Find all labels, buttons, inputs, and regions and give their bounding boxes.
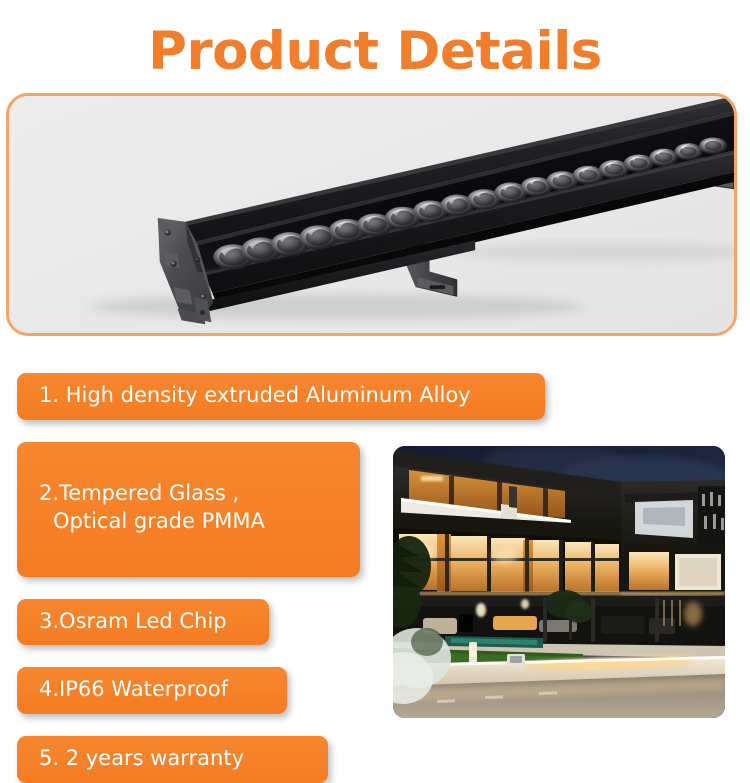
feature-pill-2-line-1: 2.Tempered Glass , bbox=[39, 481, 239, 505]
page-title: Product Details bbox=[0, 24, 750, 80]
feature-pill-2-line-2: Optical grade PMMA bbox=[39, 508, 338, 536]
feature-pill-5[interactable]: 5. 2 years warranty bbox=[17, 736, 328, 783]
led-wall-washer-illustration bbox=[9, 96, 734, 333]
application-scene-photo bbox=[393, 446, 725, 718]
feature-pill-1[interactable]: 1. High density extruded Aluminum Alloy bbox=[17, 373, 545, 420]
feature-row-1: 1. High density extruded Aluminum Alloy bbox=[17, 373, 577, 420]
feature-row-5: 5. 2 years warranty bbox=[17, 736, 577, 783]
feature-pill-4[interactable]: 4.IP66 Waterproof bbox=[17, 667, 287, 714]
product-image-frame bbox=[6, 93, 737, 336]
feature-pill-2[interactable]: 2.Tempered Glass , Optical grade PMMA bbox=[17, 442, 360, 577]
feature-pill-3[interactable]: 3.Osram Led Chip bbox=[17, 599, 269, 646]
